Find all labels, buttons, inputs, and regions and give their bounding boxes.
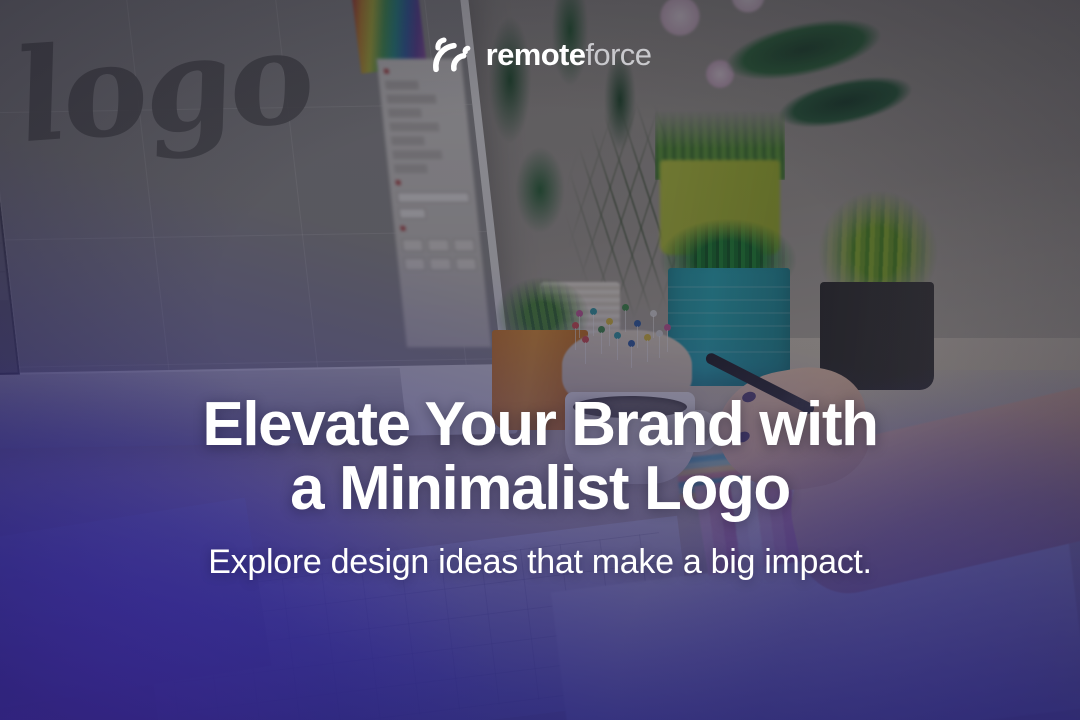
hero-title-line-1: Elevate Your Brand with: [202, 390, 877, 459]
hero-title-line-2: a Minimalist Logo: [40, 457, 1040, 521]
brand-word-force: force: [585, 37, 651, 72]
page-title: Elevate Your Brand with a Minimalist Log…: [40, 393, 1040, 521]
brand-wordmark: remoteforce: [486, 39, 652, 70]
marketing-hero-banner: logo ✥◠⌗✎◉⌕⬓／◇⬢✂▤◈T✷▣⇥◌✛✚▤▦: [0, 0, 1080, 720]
brand-lockup[interactable]: remoteforce: [0, 33, 1080, 75]
wifi-arcs-logo-icon: [429, 33, 473, 75]
hero-text-block: Elevate Your Brand with a Minimalist Log…: [0, 393, 1080, 583]
hero-subtitle: Explore design ideas that make a big imp…: [40, 542, 1040, 583]
brand-word-remote: remote: [486, 37, 586, 72]
banner-content: remoteforce Elevate Your Brand with a Mi…: [0, 0, 1080, 720]
